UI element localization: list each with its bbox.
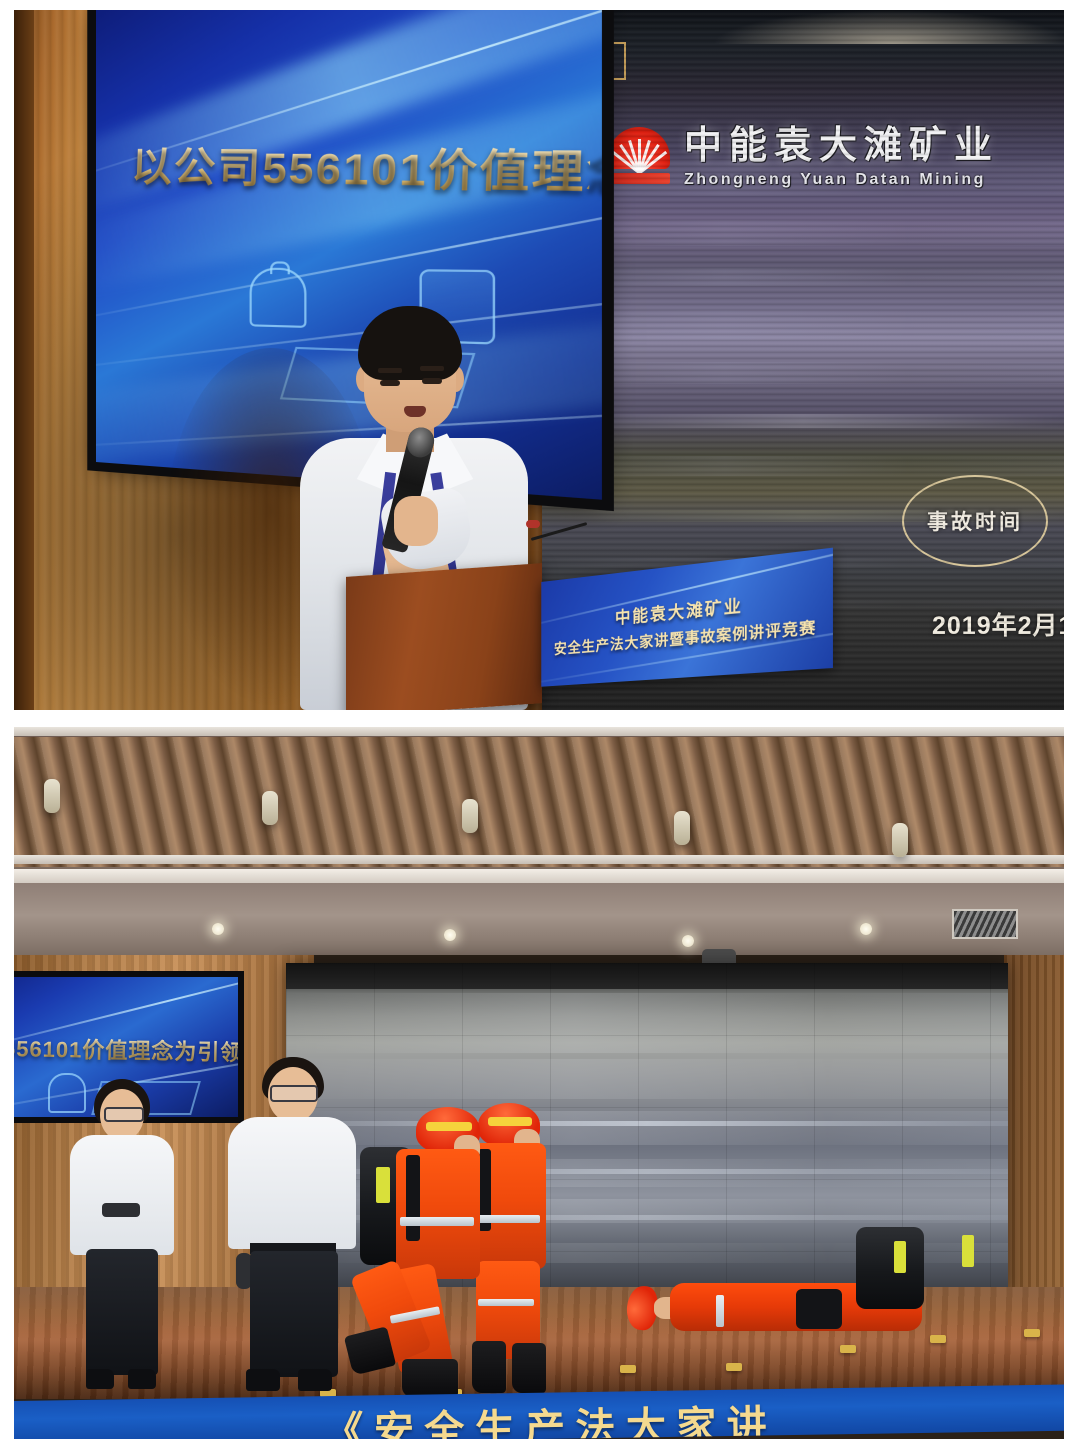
speaker-hair bbox=[358, 306, 462, 380]
speaker-brow-right bbox=[420, 366, 444, 371]
rescuer-boot bbox=[512, 1343, 546, 1393]
breathing-apparatus-pack-1 bbox=[856, 1227, 924, 1309]
accident-date-label: 2019年2月15日 bbox=[932, 606, 1064, 642]
ceiling-vent-icon bbox=[952, 909, 1018, 939]
photo-top-speaker-at-podium: 中能袁大滩矿业 Zhongneng Yuan Datan Mining 事故时间… bbox=[14, 10, 1064, 710]
speaker-eye-left bbox=[380, 380, 400, 386]
pack-yellow-stripe bbox=[894, 1241, 906, 1273]
sunburst-logo-icon bbox=[608, 121, 670, 183]
presenter-shirt bbox=[228, 1117, 356, 1249]
speaker-hand bbox=[394, 496, 438, 546]
accident-time-circle: 事故时间 bbox=[902, 475, 1048, 567]
presenter-glasses-icon bbox=[270, 1085, 318, 1102]
track-spotlight-icon bbox=[262, 791, 278, 825]
floor-marker bbox=[620, 1365, 636, 1373]
wall-display-title: 司556101价值理念为引领 bbox=[14, 1031, 238, 1068]
floor-marker bbox=[1024, 1329, 1040, 1337]
recessed-downlight-icon bbox=[444, 929, 456, 941]
wooden-podium bbox=[346, 563, 542, 710]
recessed-downlight-icon bbox=[212, 923, 224, 935]
presenter-shoe bbox=[86, 1369, 114, 1389]
helmet-reflective-band bbox=[426, 1122, 472, 1131]
presenter-trousers bbox=[86, 1249, 158, 1375]
recessed-downlight-icon bbox=[682, 935, 694, 947]
presenter-glasses-icon bbox=[104, 1107, 144, 1122]
presenter-shirt bbox=[70, 1135, 174, 1255]
presenter-female bbox=[60, 1079, 190, 1401]
speaker-eye-right bbox=[422, 378, 442, 384]
presenter-shoe bbox=[298, 1369, 332, 1391]
recessed-downlight-icon bbox=[860, 923, 872, 935]
track-spotlight-icon bbox=[462, 799, 478, 833]
rescuer-front bbox=[372, 1115, 504, 1405]
ceiling-glow bbox=[712, 10, 1064, 44]
brand-name-cn: 中能袁大滩矿业 bbox=[684, 114, 999, 169]
rescuer-boot bbox=[402, 1359, 458, 1397]
logo-subplate bbox=[608, 173, 670, 184]
photo-composite-page: 中能袁大滩矿业 Zhongneng Yuan Datan Mining 事故时间… bbox=[0, 0, 1080, 1439]
speaker-brow-left bbox=[378, 368, 402, 373]
company-brand-block: 中能袁大滩矿业 Zhongneng Yuan Datan Mining bbox=[608, 114, 999, 189]
brand-name-en: Zhongneng Yuan Datan Mining bbox=[684, 171, 999, 189]
presenter-shoe bbox=[128, 1369, 156, 1389]
ceiling-soffit bbox=[14, 883, 1064, 955]
tank-yellow-stripe bbox=[376, 1167, 390, 1203]
pack-yellow-stripe bbox=[962, 1235, 974, 1267]
accident-time-label: 事故时间 bbox=[927, 506, 1023, 536]
track-spotlight-icon bbox=[674, 811, 690, 845]
projection-screen-title: 以公司556101价值理念为引领 bbox=[131, 134, 592, 202]
rescuer-shoulder-strap bbox=[406, 1155, 420, 1241]
casualty-reflective-stripe bbox=[716, 1295, 724, 1327]
presenter-shoe bbox=[246, 1369, 280, 1391]
speaker-mouth bbox=[404, 406, 426, 417]
photo-bottom-rescue-demonstration: 司556101价值理念为引领 bbox=[14, 727, 1064, 1439]
track-spotlight-icon bbox=[892, 823, 908, 857]
rescuer-reflective-stripe bbox=[400, 1217, 474, 1226]
event-banner-text: 《安全生产法大家讲 bbox=[323, 1392, 777, 1439]
wall-dark-edge bbox=[14, 10, 34, 710]
presenter-microphone-icon bbox=[102, 1203, 140, 1217]
track-spotlight-icon bbox=[44, 779, 60, 813]
casualty-equipment-belt bbox=[796, 1289, 842, 1329]
floor-marker bbox=[726, 1363, 742, 1371]
presenter-trousers bbox=[250, 1251, 338, 1377]
